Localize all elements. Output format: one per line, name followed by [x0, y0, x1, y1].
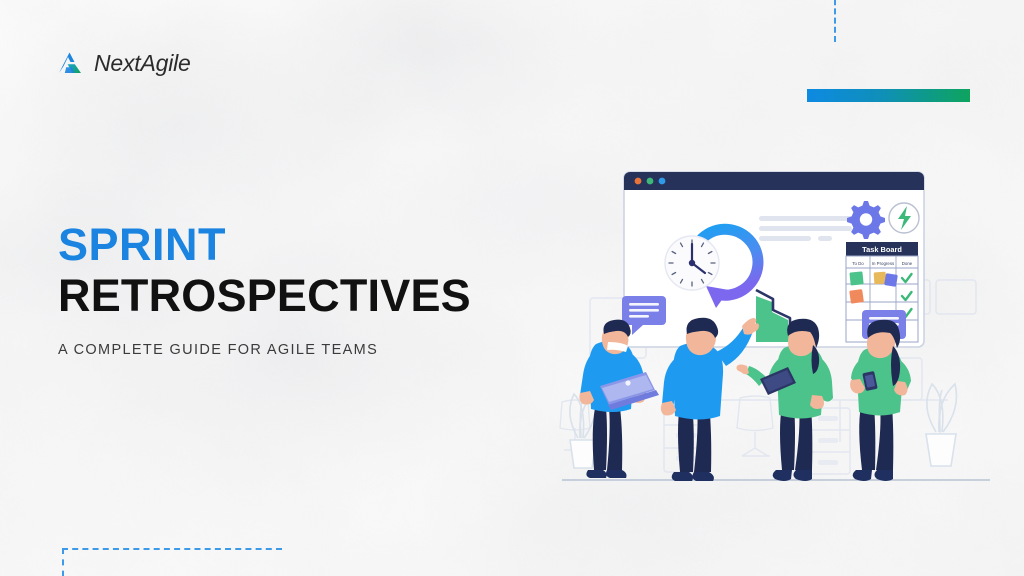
next-agile-arrow-logo-icon [55, 48, 85, 78]
task-card[interactable] [849, 271, 863, 285]
slide-canvas: NextAgile SPRINT RETROSPECTIVES A COMPLE… [0, 0, 1024, 576]
browser-titlebar [624, 172, 924, 190]
task-board-col-todo: To Do [852, 261, 864, 266]
task-card[interactable] [884, 273, 898, 287]
window-dot-minimize-icon[interactable] [647, 178, 654, 185]
hero-illustration: Task Board To Do In Progress Done [544, 150, 1004, 510]
task-board-col-done: Done [902, 261, 913, 266]
brand-name: NextAgile [94, 50, 191, 77]
task-board-col-inprogress: In Progress [872, 261, 895, 266]
brand-logo[interactable]: NextAgile [55, 48, 191, 78]
page-title-primary: SPRINT [58, 222, 471, 269]
task-card[interactable] [874, 272, 887, 285]
task-board-title: Task Board [862, 245, 902, 254]
plant-right-icon [926, 384, 957, 466]
window-dot-close-icon[interactable] [635, 178, 642, 185]
task-card[interactable] [849, 289, 864, 304]
gear-icon[interactable] [847, 201, 885, 239]
page-subtitle: A COMPLETE GUIDE FOR AGILE TEAMS [58, 342, 471, 358]
headline-block: SPRINT RETROSPECTIVES A COMPLETE GUIDE F… [58, 222, 471, 358]
decor-dashed-corner-top-right [834, 0, 1024, 42]
page-title-secondary: RETROSPECTIVES [58, 271, 471, 321]
decor-dashed-corner-bottom-left [62, 548, 282, 576]
lightning-bolt-icon[interactable] [889, 203, 919, 233]
decor-gradient-accent-bar [807, 89, 970, 102]
window-dot-maximize-icon[interactable] [659, 178, 666, 185]
